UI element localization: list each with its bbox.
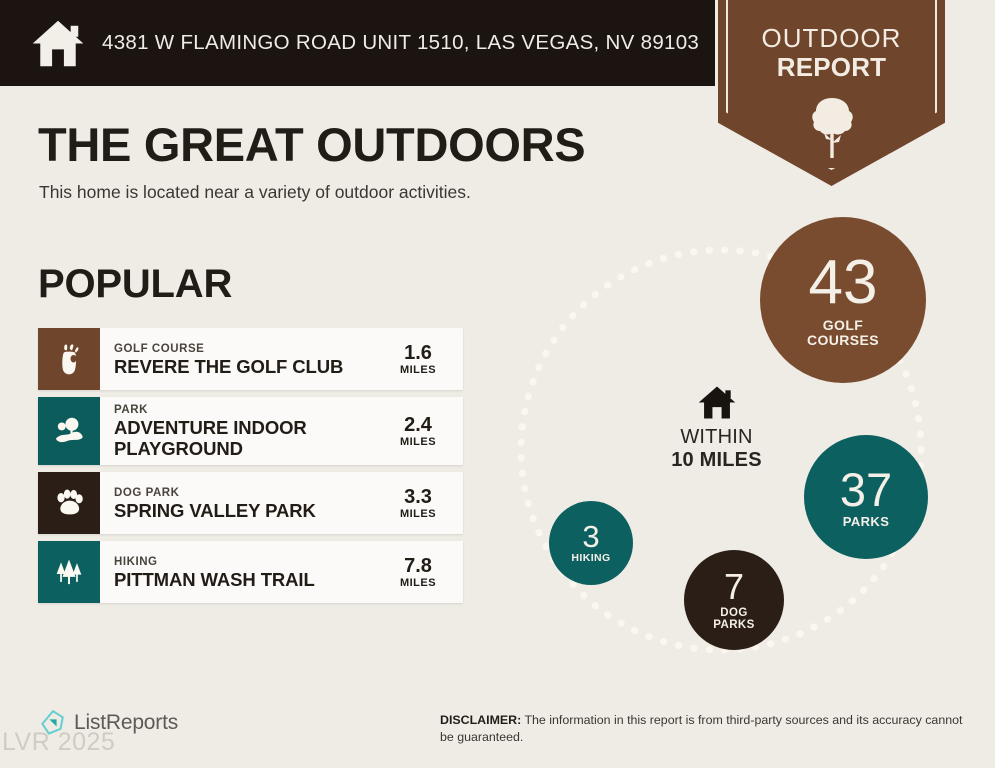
list-item-distance: 1.6 MILES [385, 342, 459, 377]
list-item-name: PITTMAN WASH TRAIL [114, 569, 385, 590]
distance-units: MILES [385, 364, 451, 377]
within-line1: WITHIN [649, 426, 784, 449]
list-item-distance: 7.8 MILES [385, 555, 459, 590]
list-item-name: ADVENTURE INDOOR PLAYGROUND [114, 417, 385, 459]
stat-bubble-dog-parks[interactable]: 7 DOG PARKS [684, 550, 784, 650]
list-item-category: GOLF COURSE [114, 342, 385, 356]
within-line2: 10 MILES [649, 449, 784, 472]
list-item[interactable]: PARK ADVENTURE INDOOR PLAYGROUND 2.4 MIL… [38, 397, 463, 465]
outdoor-report-page: 4381 W FLAMINGO ROAD UNIT 1510, LAS VEGA… [0, 0, 995, 768]
distance-value: 3.3 [385, 486, 451, 508]
stat-value: 37 [840, 466, 892, 513]
stat-value: 3 [582, 521, 599, 552]
stat-label-line1: DOG [720, 607, 747, 619]
disclaimer-label: DISCLAIMER: [440, 713, 521, 727]
disclaimer: DISCLAIMER: The information in this repo… [440, 712, 965, 745]
list-item-name: REVERE THE GOLF CLUB [114, 356, 385, 377]
distance-units: MILES [385, 436, 451, 449]
tree-icon [808, 96, 856, 160]
distance-value: 1.6 [385, 342, 451, 364]
stat-value: 7 [724, 569, 744, 605]
home-icon [649, 385, 784, 420]
within-10-miles-chart: 43 GOLF COURSES 37 PARKS 7 DOG PARKS 3 H… [500, 200, 995, 670]
stat-label: PARKS [843, 515, 890, 529]
list-item-category: PARK [114, 403, 385, 417]
stat-value: 43 [809, 252, 878, 314]
pine-trees-icon [38, 541, 100, 603]
distance-value: 7.8 [385, 555, 451, 577]
outdoor-report-badge: OUTDOOR REPORT [718, 0, 945, 186]
stat-label: GOLF COURSES [807, 318, 879, 348]
stat-label-line2: PARKS [713, 619, 754, 631]
paw-print-icon [38, 472, 100, 534]
list-item-name: SPRING VALLEY PARK [114, 500, 385, 521]
stat-bubble-parks[interactable]: 37 PARKS [804, 435, 928, 559]
home-icon [30, 18, 86, 68]
distance-units: MILES [385, 508, 451, 521]
list-item-distance: 3.3 MILES [385, 486, 459, 521]
badge-title: OUTDOOR REPORT [718, 0, 945, 82]
distance-value: 2.4 [385, 414, 451, 436]
list-item-category: HIKING [114, 555, 385, 569]
listreports-logo[interactable]: ListReports [40, 709, 178, 736]
stat-label-line2: COURSES [807, 332, 879, 348]
listreports-wordmark: ListReports [74, 711, 178, 735]
badge-title-line1: OUTDOOR [718, 24, 945, 53]
stat-label-line1: GOLF [823, 317, 863, 333]
distance-units: MILES [385, 577, 451, 590]
stat-bubble-hiking[interactable]: 3 HIKING [549, 501, 633, 585]
listreports-pentagon-icon [40, 709, 67, 736]
list-item[interactable]: HIKING PITTMAN WASH TRAIL 7.8 MILES [38, 541, 463, 603]
stat-label: HIKING [571, 553, 610, 564]
list-item-category: DOG PARK [114, 486, 385, 500]
page-subtitle: This home is located near a variety of o… [39, 182, 471, 203]
stat-label: DOG PARKS [713, 607, 754, 631]
list-item[interactable]: GOLF COURSE REVERE THE GOLF CLUB 1.6 MIL… [38, 328, 463, 390]
park-tree-icon [38, 397, 100, 465]
badge-title-line2: REPORT [718, 53, 945, 82]
property-address: 4381 W FLAMINGO ROAD UNIT 1510, LAS VEGA… [102, 31, 699, 55]
within-radius-caption: WITHIN 10 MILES [649, 385, 784, 472]
golf-bag-icon [38, 328, 100, 390]
popular-heading: POPULAR [38, 262, 232, 307]
stat-bubble-golf-courses[interactable]: 43 GOLF COURSES [760, 217, 926, 383]
list-item-distance: 2.4 MILES [385, 414, 459, 449]
header-bar: 4381 W FLAMINGO ROAD UNIT 1510, LAS VEGA… [0, 0, 715, 86]
list-item[interactable]: DOG PARK SPRING VALLEY PARK 3.3 MILES [38, 472, 463, 534]
popular-places-list: GOLF COURSE REVERE THE GOLF CLUB 1.6 MIL… [38, 328, 463, 610]
page-title: THE GREAT OUTDOORS [38, 120, 585, 170]
